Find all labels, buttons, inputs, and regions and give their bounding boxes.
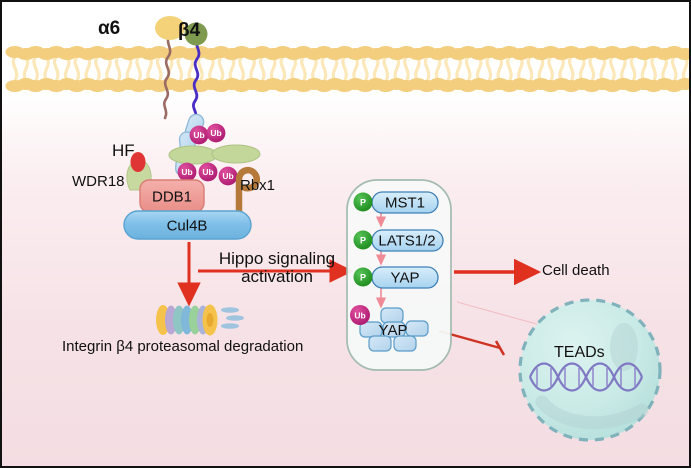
- yap-ub-label: YAP: [379, 322, 408, 339]
- ddb1-protein: DDB1: [140, 180, 204, 212]
- hf-label: HF: [112, 142, 135, 160]
- cell-death-label: Cell death: [542, 263, 610, 279]
- cul4b-label: Cul4B: [167, 218, 208, 235]
- proteasome-graphic: [156, 305, 244, 336]
- phospho-label: P: [360, 272, 366, 282]
- degradation-label: Integrin β4 proteasomal degradation: [62, 339, 303, 355]
- rbx1-label: Rbx1: [240, 178, 275, 194]
- ub-label: Ub: [222, 171, 233, 181]
- alpha6-label: α6: [98, 19, 120, 40]
- beta4-label: β4: [178, 21, 200, 42]
- nucleus-teads: [520, 300, 660, 440]
- mst1-label: MST1: [385, 195, 425, 212]
- phospho-label: P: [360, 197, 366, 207]
- hippo-line-2: activation: [241, 267, 313, 286]
- diagram-artwork: Ub Ub Ub Ub Ub DDB1: [2, 2, 691, 468]
- cul4b-protein: Cul4B: [124, 211, 251, 239]
- node-lats12: LATS1/2 P: [354, 230, 444, 251]
- phospho-label: P: [360, 235, 366, 245]
- yap-label: YAP: [391, 270, 420, 287]
- lipid-bilayer: [6, 46, 691, 92]
- lats12-label: LATS1/2: [378, 233, 435, 250]
- hippo-line-1: Hippo signaling: [219, 249, 335, 268]
- degraded-fragments: [221, 307, 244, 329]
- ub-molecule: Ub: [219, 167, 238, 186]
- hippo-cascade-box: MST1 P LATS1/2 P YAP P: [347, 180, 451, 370]
- ub-label: Ub: [181, 167, 192, 177]
- figure-canvas: Ub Ub Ub Ub Ub DDB1: [0, 0, 691, 468]
- ub-label: Ub: [210, 128, 221, 138]
- wdr18-label: WDR18: [72, 174, 125, 190]
- ub-molecule: Ub: [190, 126, 209, 145]
- hippo-activation-label: Hippo signaling activation: [202, 250, 352, 287]
- ddb1-label: DDB1: [152, 189, 192, 206]
- ub-molecule: Ub: [178, 163, 197, 182]
- ub-badge-label: Ub: [354, 310, 365, 320]
- ub-label: Ub: [202, 167, 213, 177]
- ub-label: Ub: [193, 130, 204, 140]
- ub-molecule: Ub: [199, 163, 218, 182]
- ub-molecule: Ub: [207, 124, 226, 143]
- teads-label: TEADs: [554, 344, 605, 361]
- node-yap-phospho: YAP P: [354, 267, 439, 288]
- node-mst1: MST1 P: [354, 192, 439, 213]
